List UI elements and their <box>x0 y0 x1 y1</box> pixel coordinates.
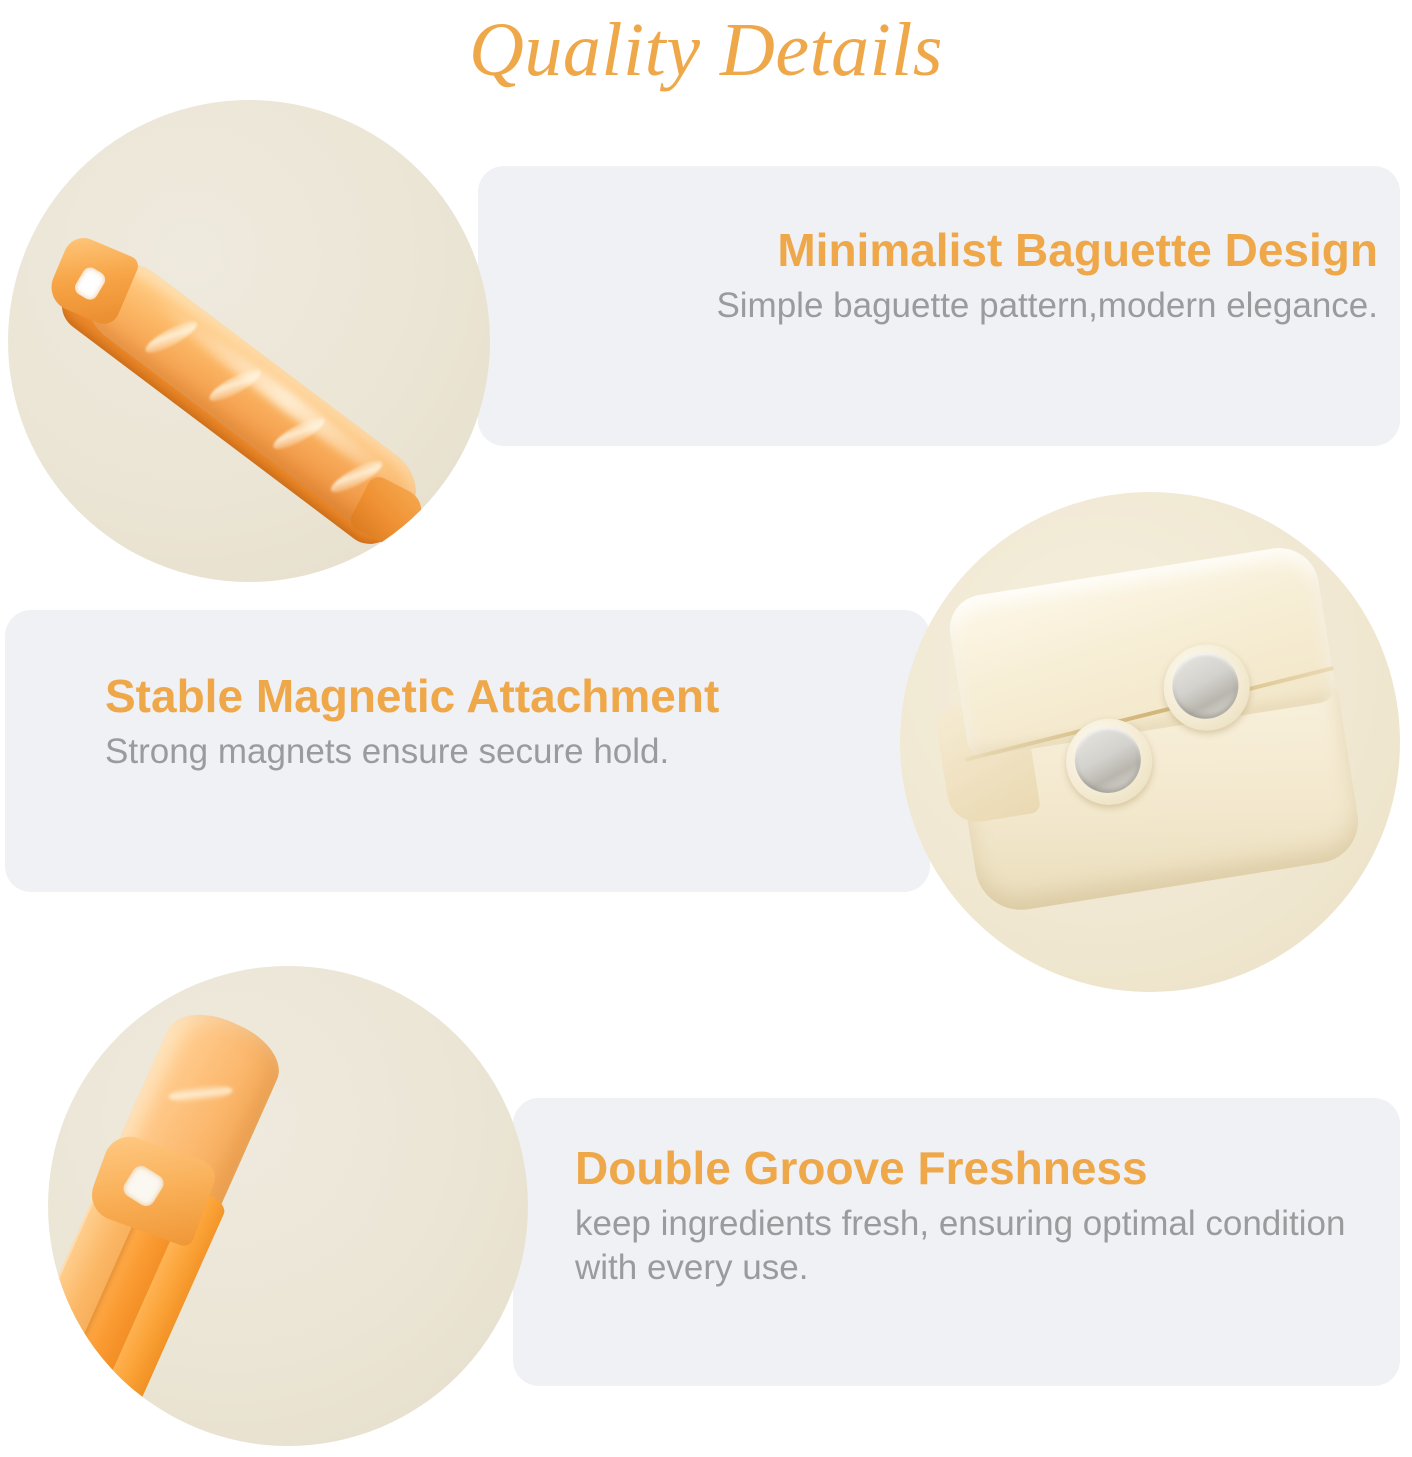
bread-score-open-1 <box>168 1082 233 1105</box>
feature-heading-2: Stable Magnetic Attachment <box>105 668 930 724</box>
magnet-clip-art <box>926 533 1374 931</box>
feature-card-3: Double Groove Freshness keep ingredients… <box>513 1098 1400 1386</box>
feature-subtext-2: Strong magnets ensure secure hold. <box>105 724 930 774</box>
page-title: Quality Details <box>0 4 1412 96</box>
feature-subtext-3: keep ingredients fresh, ensuring optimal… <box>575 1196 1370 1290</box>
feature-card-2: Stable Magnetic Attachment Strong magnet… <box>5 610 930 892</box>
feature-image-3-clip-open-grooves <box>48 966 528 1446</box>
feature-heading-3: Double Groove Freshness <box>575 1140 1370 1196</box>
feature-subtext-1: Simple baguette pattern,modern elegance. <box>478 278 1378 328</box>
open-clip-art <box>68 996 528 1426</box>
feature-image-1-baguette-clip-closed <box>8 100 490 582</box>
feature-card-1: Minimalist Baguette Design Simple baguet… <box>478 166 1400 446</box>
feature-heading-1: Minimalist Baguette Design <box>478 222 1378 278</box>
baguette-clip-closed-art <box>28 219 436 564</box>
feature-image-2-magnet-end <box>900 492 1400 992</box>
